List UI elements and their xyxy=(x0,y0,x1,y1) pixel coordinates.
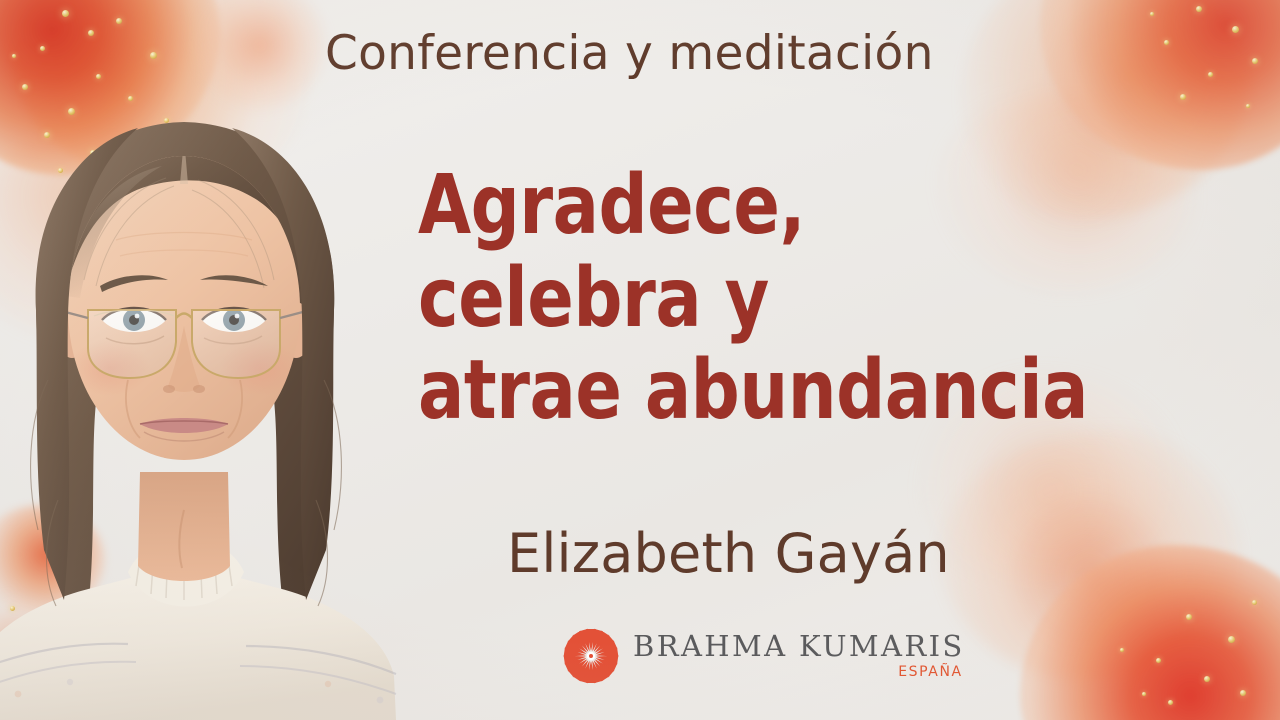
glitter-speck xyxy=(6,660,10,664)
logo-wordmark: BRAHMA KUMARIS ESPAÑA xyxy=(633,632,965,680)
hair-side-left xyxy=(36,128,138,600)
glitter-speck xyxy=(1228,636,1235,643)
glitter-speck xyxy=(88,30,94,36)
ear-left xyxy=(56,302,88,358)
glitter-speck xyxy=(138,140,142,144)
glitter-speck xyxy=(1150,12,1154,16)
watercolor-blob-top-left-core xyxy=(0,0,220,175)
glitter-speck xyxy=(58,168,63,173)
hair-wisps xyxy=(31,380,342,606)
hair-side-right xyxy=(232,128,334,600)
sweater xyxy=(0,576,396,720)
glitter-speck xyxy=(1186,614,1192,620)
glitter-speck xyxy=(1240,690,1246,696)
presentation-slide: Conferencia y meditación Agradece, celeb… xyxy=(0,0,1280,720)
ear-right xyxy=(280,302,312,358)
sweater-collar xyxy=(128,540,244,607)
speaker-portrait xyxy=(0,80,408,720)
eyeglasses xyxy=(50,308,318,378)
glitter-speck xyxy=(1246,104,1250,108)
glitter-speck xyxy=(1180,94,1186,100)
title-line-2: celebra y xyxy=(418,253,1199,346)
eye-right xyxy=(202,308,266,344)
glitter-speck xyxy=(10,606,15,611)
neck xyxy=(138,472,230,581)
glitter-speck xyxy=(1208,72,1213,77)
logo-name: BRAHMA KUMARIS xyxy=(633,632,965,662)
glitter-speck xyxy=(22,84,28,90)
title-line-1: Agradece, xyxy=(418,160,1199,253)
watercolor-blob-top-left-wash xyxy=(0,120,220,340)
collar-ribbing xyxy=(136,544,232,600)
logo-country: ESPAÑA xyxy=(898,664,963,680)
slide-eyebrow: Conferencia y meditación xyxy=(325,26,934,81)
cheek-left xyxy=(70,340,150,396)
watercolor-blob-bottom-right-spread xyxy=(940,430,1240,680)
glasses-temple-right xyxy=(280,308,318,318)
glitter-speck xyxy=(1252,600,1257,605)
glitter-speck xyxy=(26,690,31,695)
watercolor-blob-top-left-spread xyxy=(10,0,310,190)
sweater-pattern xyxy=(0,644,396,720)
glitter-speck xyxy=(1168,700,1173,705)
speaker-name: Elizabeth Gayán xyxy=(507,522,950,585)
nose xyxy=(168,326,200,392)
hair-back xyxy=(36,122,335,642)
glitter-speck xyxy=(62,10,69,17)
glitter-speck xyxy=(1164,40,1169,45)
brahma-kumaris-logo: BRAHMA KUMARIS ESPAÑA xyxy=(563,628,965,684)
glitter-speck xyxy=(90,150,96,156)
eyebrow-right xyxy=(200,275,268,286)
glasses-bridge xyxy=(176,314,192,319)
watercolor-blob-top-left-small xyxy=(195,0,325,110)
slide-title: Agradece, celebra y atrae abundancia xyxy=(418,160,1199,438)
cheek-right xyxy=(220,340,300,396)
glitter-speck xyxy=(128,96,133,101)
glitter-speck xyxy=(40,46,45,51)
glitter-speck xyxy=(1232,26,1239,33)
glasses-temple-left xyxy=(50,308,88,318)
glitter-speck xyxy=(34,632,40,638)
hair-front xyxy=(62,134,306,310)
sunburst-icon xyxy=(563,628,619,684)
face xyxy=(68,156,300,460)
glitter-speck xyxy=(1142,692,1146,696)
mouth xyxy=(140,418,228,441)
glitter-speck xyxy=(164,118,169,123)
glitter-speck xyxy=(44,132,50,138)
glitter-speck xyxy=(96,74,101,79)
watercolor-blob-top-right-core xyxy=(1040,0,1280,170)
watercolor-blob-bottom-left-wash xyxy=(0,600,70,690)
glitter-speck xyxy=(12,54,16,58)
watercolor-blob-bottom-right-core xyxy=(1020,545,1280,720)
glitter-speck xyxy=(1252,58,1258,64)
glitter-speck xyxy=(1120,648,1124,652)
eye-left xyxy=(102,308,166,344)
glitter-speck xyxy=(150,52,157,59)
glitter-speck xyxy=(1156,658,1161,663)
eyebrow-left xyxy=(100,275,168,292)
glitter-speck xyxy=(1204,676,1210,682)
title-line-3: atrae abundancia xyxy=(418,345,1199,438)
glitter-speck xyxy=(116,18,122,24)
glitter-speck xyxy=(68,108,75,115)
watercolor-blob-bottom-left xyxy=(0,505,105,615)
lens-right xyxy=(192,310,280,378)
lens-left xyxy=(88,310,176,378)
glitter-speck xyxy=(1196,6,1202,12)
